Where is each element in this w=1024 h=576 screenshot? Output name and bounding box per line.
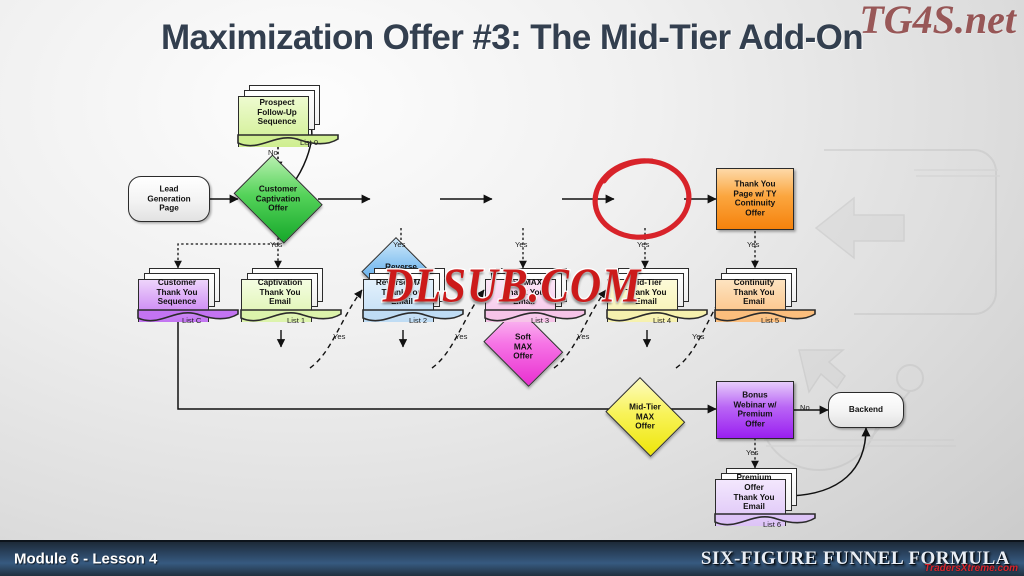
node-prospect-follow-up-sequence[interactable]: Prospect Follow-Up Sequence List 0 xyxy=(238,85,320,147)
slide-title: Maximization Offer #3: The Mid-Tier Add-… xyxy=(0,18,1024,58)
edge-label-yes-captivation: Yes xyxy=(270,240,282,249)
list-tag-listc: List C xyxy=(182,316,201,325)
node-label: Mid-Tier MAX Offer xyxy=(600,402,690,431)
node-premium-offer-thank-you-email[interactable]: Premium Offer Thank You Email List 6 xyxy=(715,468,797,526)
list-tag-list4: List 4 xyxy=(653,316,671,325)
list-tag-list0: List 0 xyxy=(300,138,318,147)
edge-label-yes-soft: Yes xyxy=(515,240,527,249)
list-tag-list6: List 6 xyxy=(763,520,781,529)
node-captivation-thank-you-email[interactable]: Captivation Thank You Email List 1 xyxy=(241,268,323,322)
node-label: Thank You Page w/ TY Continuity Offer xyxy=(717,180,793,219)
node-label: Bonus Webinar w/ Premium Offer xyxy=(717,391,793,430)
node-thank-you-page[interactable]: Thank You Page w/ TY Continuity Offer xyxy=(716,168,794,230)
node-label: Mid-Tier Thank You Email xyxy=(615,278,677,307)
node-label: Prospect Follow-Up Sequence xyxy=(246,98,308,127)
edge-label-yes-premium: Yes xyxy=(746,448,758,457)
edge-label-yes-list2: Yes xyxy=(455,332,467,341)
node-continuity-thank-you-email[interactable]: Continuity Thank You Email List 5 xyxy=(715,268,797,322)
footer-brand: SIX-FIGURE FUNNEL FORMULA xyxy=(701,548,1010,570)
node-reverse-max-thank-you-email[interactable]: Reverse MAX Thank You Email List 2 xyxy=(363,268,445,322)
list-tag-list2: List 2 xyxy=(409,316,427,325)
list-tag-list1: List 1 xyxy=(287,316,305,325)
node-customer-captivation-offer[interactable]: Customer Captivation Offer xyxy=(228,160,328,238)
node-bonus-webinar[interactable]: Bonus Webinar w/ Premium Offer xyxy=(716,381,794,439)
edge-label-yes-reverse: Yes xyxy=(393,240,405,249)
node-label: Backend xyxy=(829,405,903,415)
edge-label-yes-list3: Yes xyxy=(577,332,589,341)
edge-label-yes-midtier: Yes xyxy=(637,240,649,249)
node-label: Soft MAX Offer xyxy=(478,332,568,361)
node-soft-max-thank-you-email[interactable]: Soft MAX Thank You Email List 3 xyxy=(485,268,567,322)
edge-label-yes-list1: Yes xyxy=(333,332,345,341)
footer-bar: Module 6 - Lesson 4 SIX-FIGURE FUNNEL FO… xyxy=(0,540,1024,576)
highlight-circle-annotation xyxy=(590,155,694,241)
node-label: Soft MAX Thank You Email xyxy=(493,278,555,307)
edge-label-yes-list4: Yes xyxy=(692,332,704,341)
node-label: Premium Offer Thank You Email xyxy=(723,473,785,512)
node-mid-tier-thank-you-email[interactable]: Mid-Tier Thank You Email List 4 xyxy=(607,268,689,322)
node-customer-thank-you-sequence[interactable]: Customer Thank You Sequence List C xyxy=(138,268,220,322)
list-tag-list5: List 5 xyxy=(761,316,779,325)
node-mid-tier-max-offer[interactable]: Mid-Tier MAX Offer xyxy=(600,382,690,452)
node-label: Lead Generation Page xyxy=(129,184,209,213)
node-label: Captivation Thank You Email xyxy=(249,278,311,307)
node-label: Customer Thank You Sequence xyxy=(146,278,208,307)
edge-label-yes-continuity: Yes xyxy=(747,240,759,249)
node-backend[interactable]: Backend xyxy=(828,392,904,428)
node-label: Continuity Thank You Email xyxy=(723,278,785,307)
edge-label-no-backend: No xyxy=(800,403,810,412)
node-label: Reverse MAX Thank You Email xyxy=(371,278,433,307)
doc-wave xyxy=(238,135,338,148)
footer-module-lesson: Module 6 - Lesson 4 xyxy=(14,551,157,568)
edge-label-no-prospect: No xyxy=(268,148,278,157)
node-label: Customer Captivation Offer xyxy=(228,184,328,213)
list-tag-list3: List 3 xyxy=(531,316,549,325)
node-lead-generation-page[interactable]: Lead Generation Page xyxy=(128,176,210,222)
